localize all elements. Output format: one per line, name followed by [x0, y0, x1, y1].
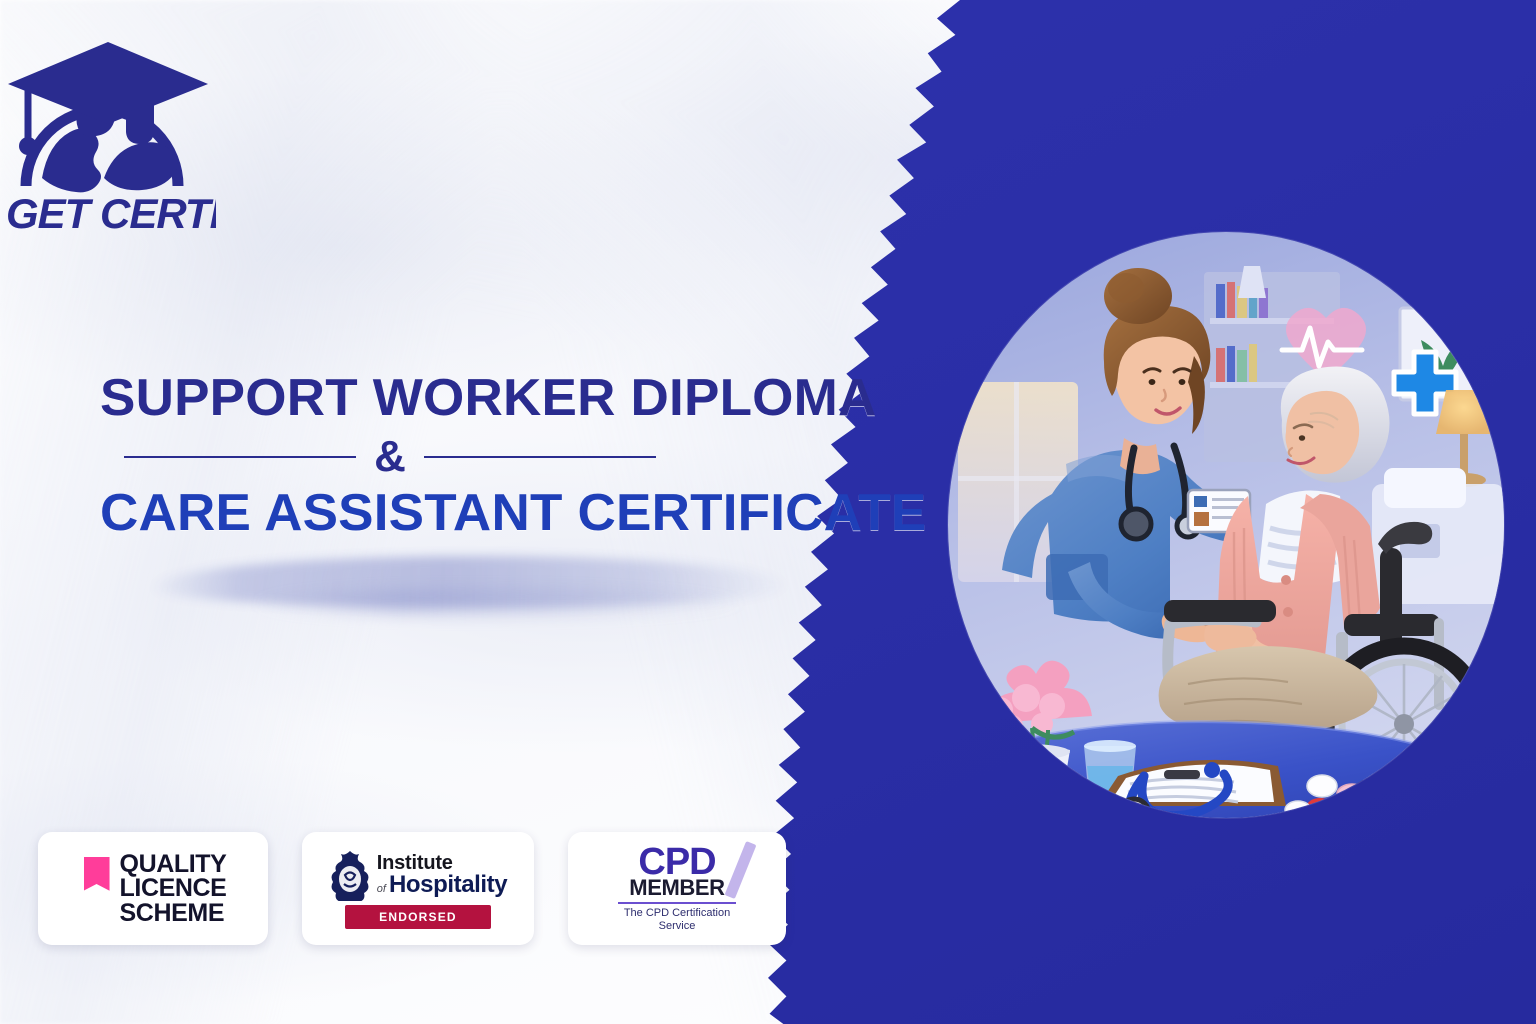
- divider-rule-left: [124, 456, 356, 458]
- photo-circle-mask: [948, 232, 1504, 818]
- heraldic-crest-icon: [329, 849, 371, 901]
- qls-line-2: LICENCE: [120, 876, 227, 901]
- badge-quality-licence-scheme[interactable]: QUALITY LICENCE SCHEME: [38, 832, 268, 945]
- headline-line-2: CARE ASSISTANT CERTIFICATE: [100, 487, 814, 540]
- ioh-endorsed-ribbon: ENDORSED: [345, 905, 491, 929]
- cpd-slash-accent: [725, 841, 757, 899]
- cpd-caption-line-2: Service: [624, 920, 730, 932]
- headline-connector-row: &: [100, 429, 680, 485]
- ioh-word-hospitality: Hospitality: [389, 873, 507, 897]
- cpd-main-text: CPD: [638, 845, 715, 879]
- ioh-word-institute: Institute: [377, 853, 507, 873]
- promo-banner: GET CERTIFY SUPPORT WORKER DIPLOMA & CAR…: [0, 0, 1536, 1024]
- divider-rule-right: [424, 456, 656, 458]
- hero-photo: [948, 232, 1504, 818]
- badge-institute-of-hospitality[interactable]: Institute of Hospitality ENDORSED: [302, 832, 534, 945]
- watercolor-brushstroke-secondary: [250, 588, 750, 618]
- cpd-underline-rule: [618, 902, 736, 904]
- headline-ampersand: &: [374, 435, 406, 479]
- cpd-caption-line-1: The CPD Certification: [624, 907, 730, 919]
- qls-line-3: SCHEME: [120, 901, 227, 926]
- cpd-member-text: MEMBER: [629, 877, 724, 899]
- headline-line-1: SUPPORT WORKER DIPLOMA: [100, 372, 814, 425]
- headline-block: SUPPORT WORKER DIPLOMA & CARE ASSISTANT …: [100, 372, 800, 540]
- logo-wordmark: GET CERTIFY: [6, 190, 216, 234]
- graduation-cap-globe-icon: [8, 42, 208, 192]
- badge-cpd-member[interactable]: CPD MEMBER The CPD Certification Service: [568, 832, 786, 945]
- bookmark-ribbon-icon: [84, 857, 110, 891]
- accreditation-badges: QUALITY LICENCE SCHEME Institute: [38, 832, 786, 945]
- ioh-word-of: of: [377, 884, 386, 895]
- brand-logo[interactable]: GET CERTIFY: [4, 28, 216, 234]
